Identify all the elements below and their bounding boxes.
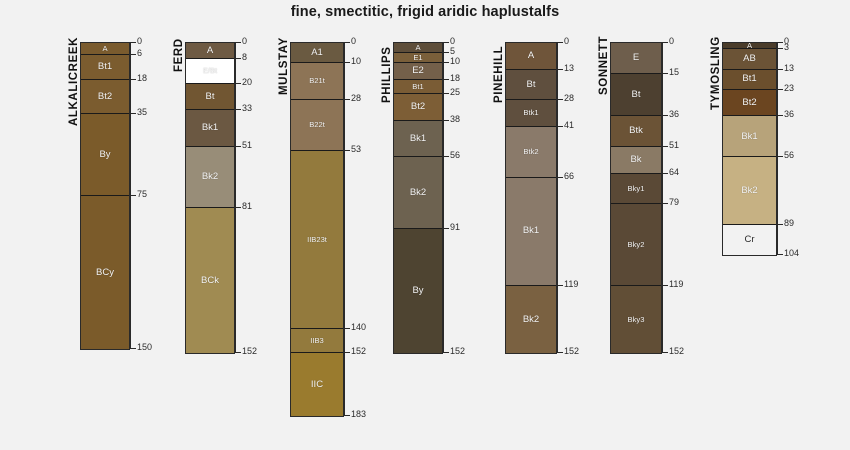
depth-tick: [557, 69, 563, 70]
soil-horizon: Bk2: [723, 157, 776, 224]
horizon-label: By: [412, 286, 423, 296]
depth-tick-label: 0: [242, 37, 247, 46]
depth-tick-label: 51: [242, 141, 252, 150]
depth-tick-label: 0: [669, 37, 674, 46]
horizon-label: A: [102, 45, 107, 53]
depth-tick: [235, 109, 241, 110]
soil-horizon: Bk1: [506, 178, 556, 286]
soil-horizon: Cr: [723, 225, 776, 256]
soil-horizon: E2: [394, 63, 442, 79]
depth-tick-label: 35: [137, 108, 147, 117]
horizon-label: E: [633, 53, 639, 63]
depth-tick-label: 10: [450, 57, 460, 66]
horizon-label: A: [207, 46, 213, 56]
horizon-label: E1: [413, 54, 422, 62]
soil-horizon: A1: [291, 43, 343, 63]
depth-tick-label: 152: [351, 347, 366, 356]
depth-tick-label: 18: [137, 74, 147, 83]
horizon-label: Bky3: [628, 316, 645, 324]
profile-column: AE1E2Bt1Bt2Bk1Bk2By: [393, 42, 443, 354]
depth-tick-label: 0: [564, 37, 569, 46]
depth-tick: [443, 42, 449, 43]
depth-tick-label: 89: [784, 219, 794, 228]
depth-axis: [344, 42, 345, 415]
horizon-label: IIB3: [310, 337, 324, 345]
horizon-label: Bt1: [412, 83, 423, 91]
horizon-label: Btk2: [523, 148, 538, 156]
depth-tick-label: 36: [669, 110, 679, 119]
depth-tick-label: 18: [450, 74, 460, 83]
depth-tick-label: 0: [351, 37, 356, 46]
depth-tick: [777, 254, 783, 255]
depth-tick: [557, 177, 563, 178]
depth-tick-label: 0: [450, 37, 455, 46]
soil-horizon: Bky3: [611, 286, 661, 353]
horizon-label: Bk2: [523, 315, 539, 325]
depth-tick: [662, 285, 668, 286]
depth-tick: [344, 328, 350, 329]
soil-horizon: Bk2: [394, 157, 442, 228]
depth-tick: [557, 352, 563, 353]
depth-tick-label: 75: [137, 190, 147, 199]
depth-axis: [777, 42, 778, 254]
horizon-label: Bt2: [411, 102, 425, 112]
depth-tick-label: 66: [564, 172, 574, 181]
depth-tick: [235, 207, 241, 208]
depth-axis: [235, 42, 236, 352]
depth-tick: [557, 126, 563, 127]
soil-horizon: Bk2: [186, 147, 234, 208]
soil-horizon: Bky1: [611, 174, 661, 205]
depth-axis: [662, 42, 663, 352]
horizon-label: IIB23t: [307, 236, 327, 244]
soil-horizon: BCy: [81, 196, 129, 349]
chart-title: fine, smectitic, frigid aridic haplustal…: [0, 4, 850, 20]
depth-tick: [235, 83, 241, 84]
soil-horizon: Bt: [186, 84, 234, 111]
soil-horizon: A: [186, 43, 234, 59]
profile-site-name: SONNETT: [598, 36, 610, 95]
soil-horizon: E: [611, 43, 661, 74]
profile-column: EBtBtkBkBky1Bky2Bky3: [610, 42, 662, 354]
depth-tick: [777, 115, 783, 116]
soil-horizon: Bt1: [394, 80, 442, 94]
depth-tick: [130, 348, 136, 349]
depth-tick-label: 140: [351, 323, 366, 332]
soil-horizon: Bk1: [723, 116, 776, 157]
horizon-label: Bk2: [410, 188, 426, 198]
depth-tick-label: 25: [450, 88, 460, 97]
horizon-label: Bk2: [741, 186, 757, 196]
profile-column: ABtBtk1Btk2Bk1Bk2: [505, 42, 557, 354]
horizon-label: Cr: [744, 235, 754, 245]
profile-site-name: TYMOSLING: [710, 37, 722, 111]
depth-tick: [777, 224, 783, 225]
horizon-label: IIC: [311, 380, 323, 390]
depth-tick-label: 152: [564, 347, 579, 356]
depth-tick: [662, 115, 668, 116]
horizon-label: Bt2: [742, 98, 756, 108]
soil-horizon: B21t: [291, 63, 343, 100]
soil-horizon: BCk: [186, 208, 234, 353]
depth-tick: [344, 62, 350, 63]
depth-tick: [443, 228, 449, 229]
soil-horizon: A: [394, 43, 442, 53]
soil-horizon: AB: [723, 49, 776, 69]
profile-column: AE/BtBtBk1Bk2BCk: [185, 42, 235, 354]
depth-tick: [557, 99, 563, 100]
horizon-label: AB: [743, 54, 756, 64]
depth-tick: [443, 352, 449, 353]
depth-tick-label: 28: [351, 94, 361, 103]
horizon-label: BCy: [96, 268, 114, 278]
depth-tick-label: 152: [669, 347, 684, 356]
depth-tick: [777, 69, 783, 70]
depth-tick-label: 33: [242, 104, 252, 113]
depth-tick-label: 36: [784, 110, 794, 119]
soil-horizon: Bt2: [81, 80, 129, 115]
depth-tick-label: 152: [450, 347, 465, 356]
depth-tick: [777, 48, 783, 49]
profile-site-name: MULSTAY: [278, 37, 290, 95]
soil-horizon: By: [394, 229, 442, 353]
depth-tick-label: 20: [242, 78, 252, 87]
horizon-label: Bky1: [628, 185, 645, 193]
depth-tick-label: 10: [351, 57, 361, 66]
horizon-label: Bt1: [742, 74, 756, 84]
depth-tick-label: 5: [450, 47, 455, 56]
horizon-label: B21t: [309, 77, 325, 85]
horizon-label: A1: [311, 48, 323, 58]
horizon-label: E/Bt: [203, 67, 217, 75]
depth-tick: [344, 352, 350, 353]
depth-axis: [557, 42, 558, 352]
horizon-label: E2: [412, 66, 424, 76]
depth-tick: [130, 113, 136, 114]
horizon-label: Bt: [632, 90, 641, 100]
depth-tick: [443, 120, 449, 121]
profile-site-name: PINEHILL: [493, 46, 505, 103]
depth-tick-label: 23: [784, 84, 794, 93]
depth-tick: [130, 195, 136, 196]
depth-tick: [777, 89, 783, 90]
soil-horizon: Bk2: [506, 286, 556, 353]
depth-tick-label: 51: [669, 141, 679, 150]
soil-horizon: Bt2: [723, 90, 776, 117]
soil-horizon: E1: [394, 53, 442, 63]
soil-horizon: Bt: [611, 74, 661, 117]
depth-tick-label: 41: [564, 121, 574, 130]
soil-horizon: Bk: [611, 147, 661, 174]
soil-horizon: By: [81, 114, 129, 196]
horizon-label: Bt2: [98, 92, 112, 102]
profile-site-name: ALKALICREEK: [68, 37, 80, 126]
depth-tick: [344, 99, 350, 100]
horizon-label: Bk1: [410, 134, 426, 144]
depth-tick: [130, 42, 136, 43]
depth-tick: [662, 73, 668, 74]
depth-tick-label: 150: [137, 343, 152, 352]
soil-horizon: Btk: [611, 116, 661, 147]
depth-tick: [662, 352, 668, 353]
horizon-label: Bt1: [98, 62, 112, 72]
horizon-label: Btk: [629, 126, 643, 136]
depth-tick: [662, 203, 668, 204]
horizon-label: Bk2: [202, 172, 218, 182]
soil-horizon: Bk1: [394, 121, 442, 158]
depth-tick: [344, 42, 350, 43]
depth-tick: [443, 62, 449, 63]
soil-profile-chart: fine, smectitic, frigid aridic haplustal…: [0, 0, 850, 450]
depth-axis: [443, 42, 444, 352]
depth-tick-label: 64: [669, 168, 679, 177]
horizon-label: Bky2: [628, 241, 645, 249]
profile-column: A1B21tB22tIIB23tIIB3IIC: [290, 42, 344, 417]
depth-tick-label: 79: [669, 198, 679, 207]
soil-horizon: IIB23t: [291, 151, 343, 328]
soil-horizon: Bt1: [723, 70, 776, 90]
depth-tick-label: 53: [351, 145, 361, 154]
depth-tick-label: 56: [450, 151, 460, 160]
profile-site-name: PHILLIPS: [381, 46, 393, 103]
depth-tick-label: 183: [351, 410, 366, 419]
depth-tick: [235, 42, 241, 43]
depth-tick-label: 8: [242, 53, 247, 62]
soil-horizon: Bk1: [186, 110, 234, 147]
depth-tick: [662, 42, 668, 43]
horizon-label: B22t: [309, 121, 325, 129]
depth-tick-label: 152: [242, 347, 257, 356]
depth-tick-label: 13: [784, 64, 794, 73]
depth-tick-label: 119: [669, 280, 683, 289]
depth-tick: [344, 150, 350, 151]
depth-tick: [662, 173, 668, 174]
horizon-label: Bk1: [741, 132, 757, 142]
horizon-label: Bt: [527, 80, 536, 90]
depth-tick: [443, 93, 449, 94]
depth-tick-label: 119: [564, 280, 578, 289]
horizon-label: Bk1: [202, 123, 218, 133]
depth-tick-label: 91: [450, 223, 460, 232]
depth-tick: [235, 58, 241, 59]
depth-tick-label: 13: [564, 64, 574, 73]
soil-horizon: IIC: [291, 353, 343, 416]
depth-tick: [130, 79, 136, 80]
profile-column: AABBt1Bt2Bk1Bk2Cr: [722, 42, 777, 256]
soil-horizon: Btk1: [506, 100, 556, 127]
depth-tick-label: 38: [450, 115, 460, 124]
depth-tick: [777, 42, 783, 43]
horizon-label: A: [415, 44, 420, 52]
soil-horizon: E/Bt: [186, 59, 234, 83]
depth-tick-label: 56: [784, 151, 794, 160]
horizon-label: Bt: [206, 92, 215, 102]
depth-tick-label: 0: [137, 37, 142, 46]
depth-tick: [777, 156, 783, 157]
horizon-label: Bk: [630, 155, 641, 165]
soil-horizon: Bky2: [611, 204, 661, 286]
depth-tick-label: 3: [784, 43, 789, 52]
soil-horizon: B22t: [291, 100, 343, 151]
horizon-label: BCk: [201, 276, 219, 286]
depth-tick: [443, 156, 449, 157]
depth-tick-label: 15: [669, 68, 679, 77]
depth-tick: [557, 285, 563, 286]
soil-horizon: Bt: [506, 70, 556, 101]
depth-tick: [443, 79, 449, 80]
soil-horizon: Btk2: [506, 127, 556, 178]
depth-tick: [344, 415, 350, 416]
depth-tick: [130, 54, 136, 55]
profile-site-name: FERD: [173, 39, 185, 73]
depth-tick: [443, 52, 449, 53]
soil-horizon: Bt1: [81, 55, 129, 79]
depth-tick: [235, 146, 241, 147]
depth-tick-label: 28: [564, 94, 574, 103]
depth-tick: [557, 42, 563, 43]
soil-horizon: Bt2: [394, 94, 442, 121]
horizon-label: Bk1: [523, 226, 539, 236]
soil-horizon: IIB3: [291, 329, 343, 353]
depth-tick: [662, 146, 668, 147]
depth-tick-label: 104: [784, 249, 799, 258]
depth-tick-label: 6: [137, 49, 142, 58]
soil-horizon: A: [506, 43, 556, 70]
depth-tick-label: 81: [242, 202, 252, 211]
horizon-label: By: [99, 150, 110, 160]
soil-horizon: A: [81, 43, 129, 55]
horizon-label: Btk1: [523, 109, 538, 117]
horizon-label: A: [528, 51, 534, 61]
depth-tick: [235, 352, 241, 353]
profile-column: ABt1Bt2ByBCy: [80, 42, 130, 350]
